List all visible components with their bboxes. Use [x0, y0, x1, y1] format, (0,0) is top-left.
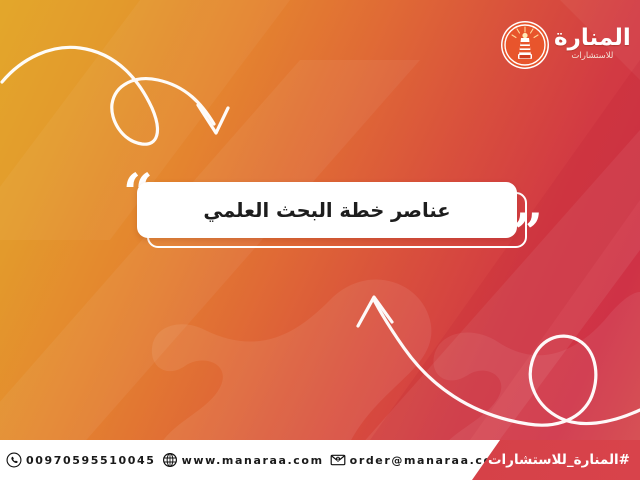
page-title: عناصر خطة البحث العلمي: [203, 199, 450, 222]
brand-logo-text: المنارة للاستشارات: [554, 27, 631, 64]
brand-logo: المنارة للاستشارات: [500, 14, 630, 76]
footer-hashtag[interactable]: #المنارة_للاستشارات: [488, 440, 630, 480]
contact-website-text: www.manaraa.com: [182, 454, 324, 467]
title-card: عناصر خطة البحث العلمي: [137, 182, 517, 238]
footer-contact-strip: 00970595510045 www.manaraa.com: [0, 440, 500, 480]
quote-close-mark: ”: [513, 208, 543, 260]
globe-icon: [162, 452, 178, 468]
envelope-icon: [330, 452, 346, 468]
contact-email-text: order@manaraa.com: [350, 454, 506, 467]
title-block: “ عناصر خطة البحث العلمي ”: [125, 178, 540, 263]
footer-bar: 00970595510045 www.manaraa.com: [0, 440, 640, 480]
slide-canvas: المنارة للاستشارات “: [0, 0, 640, 480]
brand-name: المنارة: [554, 27, 631, 50]
brand-tagline: للاستشارات: [554, 52, 631, 61]
contact-phone-text: 00970595510045: [26, 454, 156, 467]
whatsapp-icon: [6, 452, 22, 468]
contact-phone[interactable]: 00970595510045: [6, 452, 156, 468]
contact-website[interactable]: www.manaraa.com: [162, 452, 324, 468]
contact-email[interactable]: order@manaraa.com: [330, 452, 506, 468]
lighthouse-icon: [500, 20, 550, 70]
